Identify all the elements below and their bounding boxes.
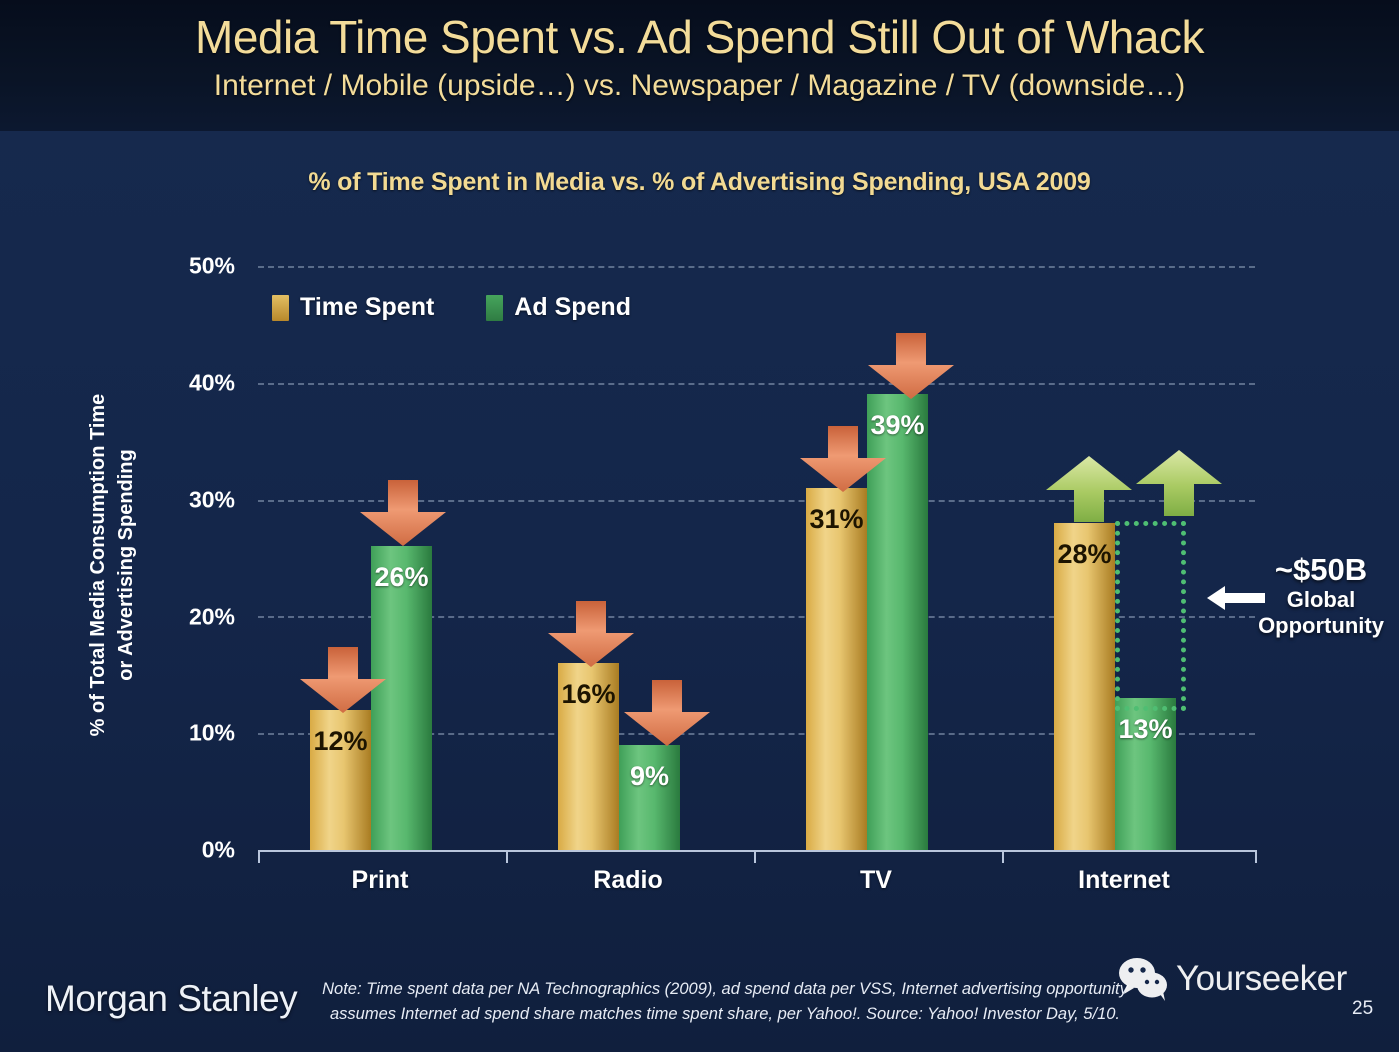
watermark: Yourseeker: [1118, 957, 1347, 1001]
opportunity-line2: Global: [1243, 587, 1399, 613]
x-axis-tick-2: [754, 850, 756, 863]
opportunity-box: [1115, 521, 1186, 711]
x-axis-start-tick: [258, 850, 260, 863]
legend-label-ad-spend: Ad Spend: [514, 293, 631, 322]
y-tick-10: 10%: [189, 720, 235, 747]
morgan-stanley-logo: Morgan Stanley: [45, 978, 297, 1020]
slide-subtitle: Internet / Mobile (upside…) vs. Newspape…: [0, 63, 1399, 102]
x-axis-tick-1: [506, 850, 508, 863]
bar-label-internet-ad-spend: 13%: [1115, 714, 1176, 745]
gridline-40: [258, 383, 1255, 385]
x-category-radio: Radio: [503, 866, 753, 895]
chart-title: % of Time Spent in Media vs. % of Advert…: [0, 168, 1399, 197]
legend-swatch-ad-spend: [486, 295, 503, 321]
watermark-text: Yourseeker: [1176, 959, 1347, 999]
y-axis-title-line2: or Advertising Spending: [114, 330, 139, 800]
down-arrow-icon: [624, 680, 710, 746]
down-arrow-icon: [548, 601, 634, 667]
legend-item-time-spent[interactable]: Time Spent: [272, 293, 434, 322]
y-tick-20: 20%: [189, 604, 235, 631]
x-category-tv: TV: [751, 866, 1001, 895]
x-axis-end-tick: [1255, 850, 1257, 863]
plot-area: 12% 26% 16% 9% 31% 39% 28% 13%: [258, 266, 1255, 850]
gridline-50: [258, 266, 1255, 268]
bar-label-internet-time-spent: 28%: [1054, 539, 1115, 570]
down-arrow-icon: [800, 426, 886, 492]
down-arrow-icon: [300, 647, 386, 713]
chart-legend: Time Spent Ad Spend: [272, 293, 631, 322]
legend-swatch-time-spent: [272, 295, 289, 321]
page-number: 25: [1352, 998, 1373, 1020]
source-note: Note: Time spent data per NA Technograph…: [310, 977, 1140, 1027]
down-arrow-icon: [868, 333, 954, 399]
bar-radio-time-spent[interactable]: 16%: [558, 663, 619, 850]
x-axis-line: [258, 850, 1257, 852]
bar-label-radio-time-spent: 16%: [558, 679, 619, 710]
down-arrow-icon: [360, 480, 446, 546]
x-axis-tick-3: [1002, 850, 1004, 863]
y-tick-40: 40%: [189, 370, 235, 397]
x-category-print: Print: [255, 866, 505, 895]
opportunity-line3: Opportunity: [1243, 613, 1399, 639]
bar-radio-ad-spend[interactable]: 9%: [619, 745, 680, 850]
bar-tv-time-spent[interactable]: 31%: [806, 488, 867, 850]
up-arrow-icon: [1046, 456, 1132, 522]
bar-label-tv-time-spent: 31%: [806, 504, 867, 535]
x-category-internet: Internet: [999, 866, 1249, 895]
y-tick-30: 30%: [189, 487, 235, 514]
up-arrow-icon: [1136, 450, 1222, 516]
opportunity-annotation: ~$50B Global Opportunity: [1243, 553, 1399, 640]
bar-label-radio-ad-spend: 9%: [619, 761, 680, 792]
source-note-line2: spend share matches time spent share, pe…: [484, 1005, 1120, 1023]
y-axis-title-line1: % of Total Media Consumption Time: [86, 330, 111, 800]
y-tick-50: 50%: [189, 253, 235, 280]
legend-label-time-spent: Time Spent: [300, 293, 434, 322]
slide-header: Media Time Spent vs. Ad Spend Still Out …: [0, 0, 1399, 131]
wechat-icon: [1118, 957, 1170, 1001]
bar-label-print-ad-spend: 26%: [371, 562, 432, 593]
opportunity-amount: ~$50B: [1243, 553, 1399, 587]
slide: Media Time Spent vs. Ad Spend Still Out …: [0, 0, 1399, 1052]
legend-item-ad-spend[interactable]: Ad Spend: [486, 293, 631, 322]
bar-label-print-time-spent: 12%: [310, 726, 371, 757]
bar-internet-ad-spend[interactable]: 13%: [1115, 698, 1176, 850]
bar-print-time-spent[interactable]: 12%: [310, 710, 371, 850]
y-tick-0: 0%: [202, 837, 235, 864]
y-axis-title: % of Total Media Consumption Time or Adv…: [62, 330, 122, 800]
slide-title: Media Time Spent vs. Ad Spend Still Out …: [0, 0, 1399, 63]
bar-internet-time-spent[interactable]: 28%: [1054, 523, 1115, 850]
